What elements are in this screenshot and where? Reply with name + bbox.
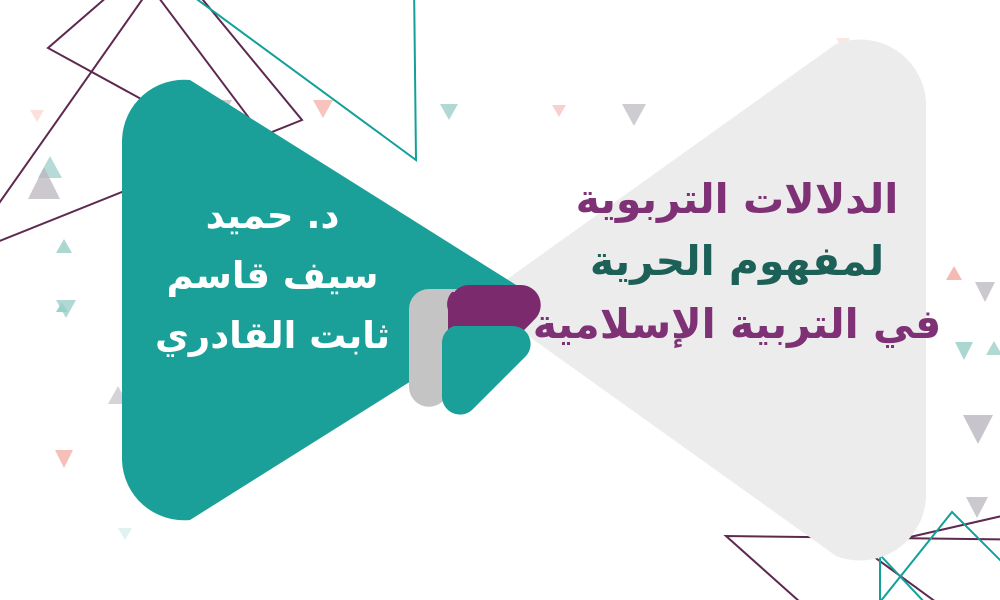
title-line-2: لمفهوم الحرية [522,230,952,292]
title-line-3: في التربية الإسلامية [522,293,952,355]
author-line-2: سيف قاسم [140,246,405,306]
author-name: د. حميد سيف قاسم ثابت القادري [140,186,405,366]
book-title: الدلالات التربوية لمفهوم الحرية في الترب… [522,168,952,355]
cover-text: الدلالات التربوية لمفهوم الحرية في الترب… [0,0,1000,600]
author-line-3: ثابت القادري [140,306,405,366]
author-line-1: د. حميد [140,186,405,246]
title-line-1: الدلالات التربوية [522,168,952,230]
book-cover: الدلالات التربوية لمفهوم الحرية في الترب… [0,0,1000,600]
